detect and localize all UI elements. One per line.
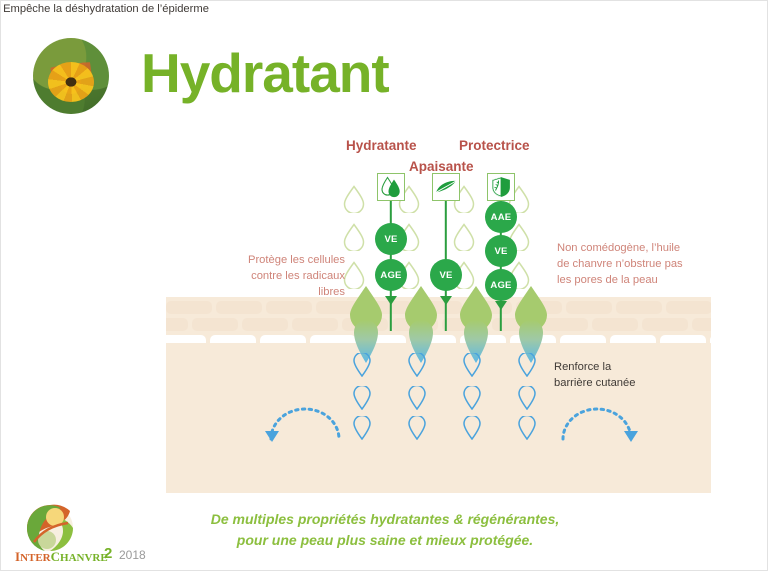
leaf-icon [432,173,460,201]
water-drop-icon [408,386,426,410]
skin-block [166,297,711,493]
skin-cell-brick [610,335,656,343]
node-ve: VE [430,259,462,291]
flower-icon [48,62,94,102]
arrow-down-icon [440,296,452,305]
slide: Hydratant Hydratante Apaisante Protectri… [0,0,768,571]
skin-cell-brick [242,318,288,331]
water-drop-icon [518,353,536,377]
skin-cell-brick [310,335,356,343]
skin-cell-brick [166,335,206,343]
header-logo-image [33,38,109,114]
skin-cell-brick [216,301,262,314]
arrow-down-icon [385,296,397,305]
node-age: AGE [485,269,517,301]
stratum-corneum-bricks [166,297,711,343]
footer-year: 2018 [119,548,146,562]
skin-cell-brick [710,335,711,343]
water-drop-icon [463,353,481,377]
slide-caption: De multiples propriétés hydratantes & ré… [155,509,615,551]
skin-cell-brick [560,335,606,343]
skin-cell-brick [292,318,338,331]
outline-drop-icon [453,223,475,251]
annotation-right-mid: Renforce la barrière cutanée [554,359,684,391]
skin-cell-brick [192,318,238,331]
skin-cell-brick [166,301,212,314]
water-drop-icon [518,386,536,410]
annotation-bottom-center: Empêche la déshydratation de l’épiderme [1,1,211,17]
outline-drop-icon [343,185,365,213]
water-drop-icon [408,416,426,440]
skin-cell-brick [692,318,711,331]
skin-cell-brick [566,301,612,314]
water-drop-icon [353,386,371,410]
shield-icon [487,173,515,201]
skin-cell-brick [542,318,588,331]
skin-cell-brick [266,301,312,314]
arrow-down-icon [495,301,507,310]
annotation-right-top: Non comédogène, l’huile de chanvre n’obs… [557,240,707,289]
skin-cell-brick [210,335,256,343]
skin-cell-brick [260,335,306,343]
node-age: AGE [375,259,407,291]
node-ve: VE [375,223,407,255]
skin-cell-brick [166,318,188,331]
page-number: 2 [104,545,112,562]
skin-cell-brick [642,318,688,331]
node-aae: AAE [485,201,517,233]
footer-logo-icon [23,504,77,554]
droplet-icon [377,173,405,201]
skin-cell-brick [660,335,706,343]
label-protectrice: Protectrice [459,138,530,153]
arc-left-icon [263,399,353,445]
skin-cell-brick [592,318,638,331]
water-drop-icon [408,353,426,377]
water-drop-icon [353,353,371,377]
arc-right-icon [549,399,639,445]
page-title: Hydratant [141,43,389,104]
brand-inter-rest: NTER [20,552,51,564]
water-drop-icon [463,386,481,410]
skin-cell-brick [666,301,711,314]
annotation-left: Protège les cellules contre les radicaux… [225,252,345,301]
water-drop-icon [518,416,536,440]
water-drop-icon [463,416,481,440]
node-ve: VE [485,235,517,267]
brand-chanvre: C [51,549,60,564]
brand-chanvre-rest: HANVRE [60,552,108,564]
label-hydratante: Hydratante [346,138,417,153]
water-drop-icon [353,416,371,440]
brand-name: INTERCHANVRE [15,549,108,565]
label-apaisante: Apaisante [409,159,474,174]
skin-cell-brick [616,301,662,314]
outline-drop-icon [343,223,365,251]
